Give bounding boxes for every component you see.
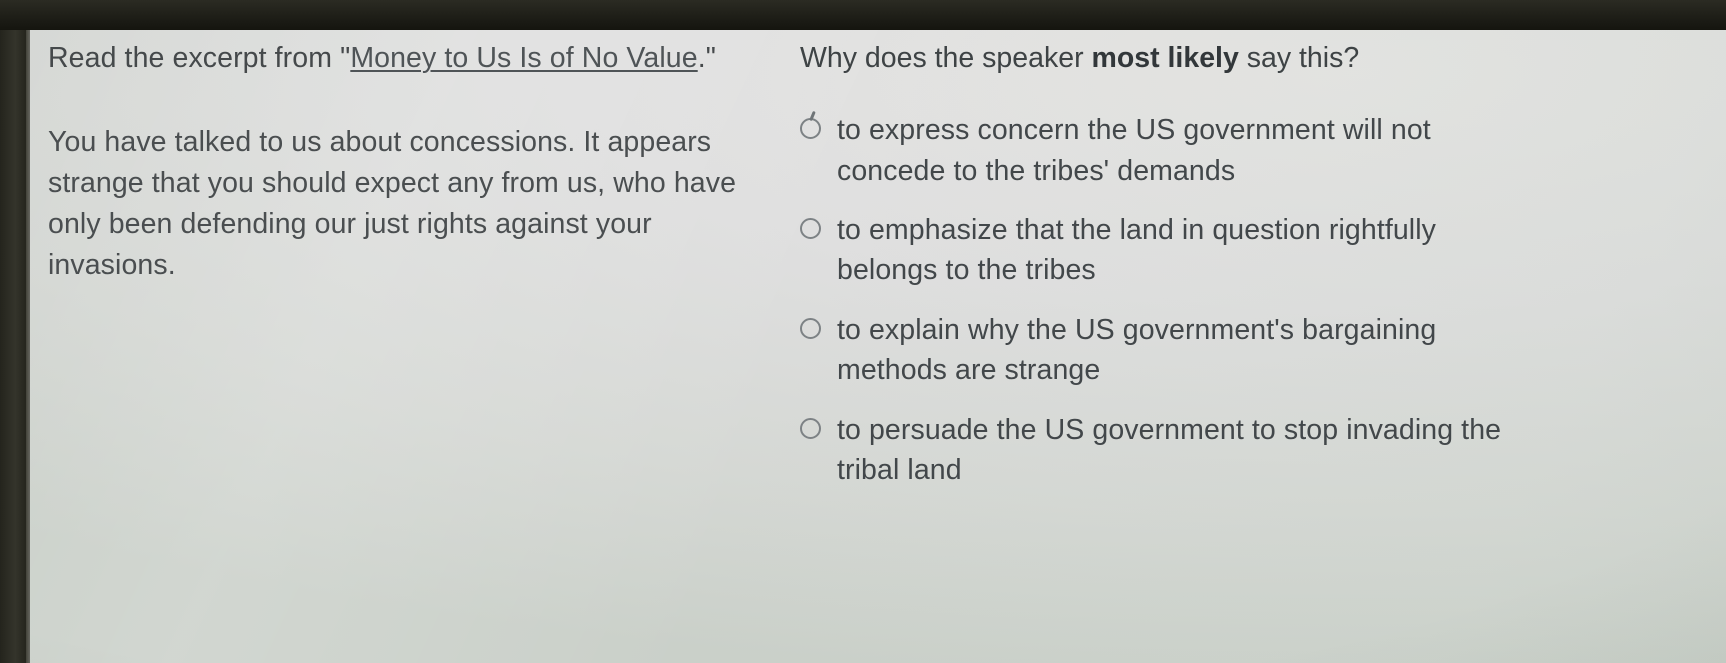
answer-choice-a-label: to express concern the US government wil… (837, 110, 1537, 191)
answer-choice-a[interactable]: to express concern the US government wil… (800, 110, 1706, 191)
answer-choice-d-label: to persuade the US government to stop in… (837, 410, 1537, 491)
excerpt-text: You have talked to us about concessions.… (48, 122, 748, 286)
radio-button-icon-d[interactable] (800, 418, 821, 439)
radio-button-icon-c[interactable] (800, 318, 821, 339)
radio-button-icon-b[interactable] (800, 218, 821, 239)
answer-choice-b-label: to emphasize that the land in question r… (837, 210, 1537, 291)
excerpt-title-link[interactable]: Money to Us Is of No Value (350, 42, 697, 74)
answer-choice-list: to express concern the US government wil… (800, 110, 1706, 491)
instruction-suffix: ." (698, 42, 716, 74)
answer-choice-c-label: to explain why the US government's barga… (837, 310, 1537, 391)
radio-button-icon-a[interactable] (800, 118, 821, 139)
question-layout: Read the excerpt from "Money to Us Is of… (30, 22, 1726, 663)
question-column: Why does the speaker most likely say thi… (790, 40, 1726, 510)
question-prompt-prefix: Why does the speaker (800, 42, 1092, 74)
screen-area: Read the excerpt from "Money to Us Is of… (30, 22, 1726, 663)
photo-frame: Read the excerpt from "Money to Us Is of… (0, 0, 1726, 663)
question-prompt: Why does the speaker most likely say thi… (800, 40, 1706, 77)
answer-choice-c[interactable]: to explain why the US government's barga… (800, 310, 1706, 391)
answer-choice-b[interactable]: to emphasize that the land in question r… (800, 210, 1706, 291)
question-prompt-suffix: say this? (1239, 42, 1359, 74)
question-prompt-emphasis: most likely (1092, 42, 1239, 74)
passage-instruction: Read the excerpt from "Money to Us Is of… (48, 40, 760, 77)
passage-column: Read the excerpt from "Money to Us Is of… (30, 40, 790, 286)
instruction-prefix: Read the excerpt from " (48, 42, 350, 74)
answer-choice-d[interactable]: to persuade the US government to stop in… (800, 410, 1706, 491)
